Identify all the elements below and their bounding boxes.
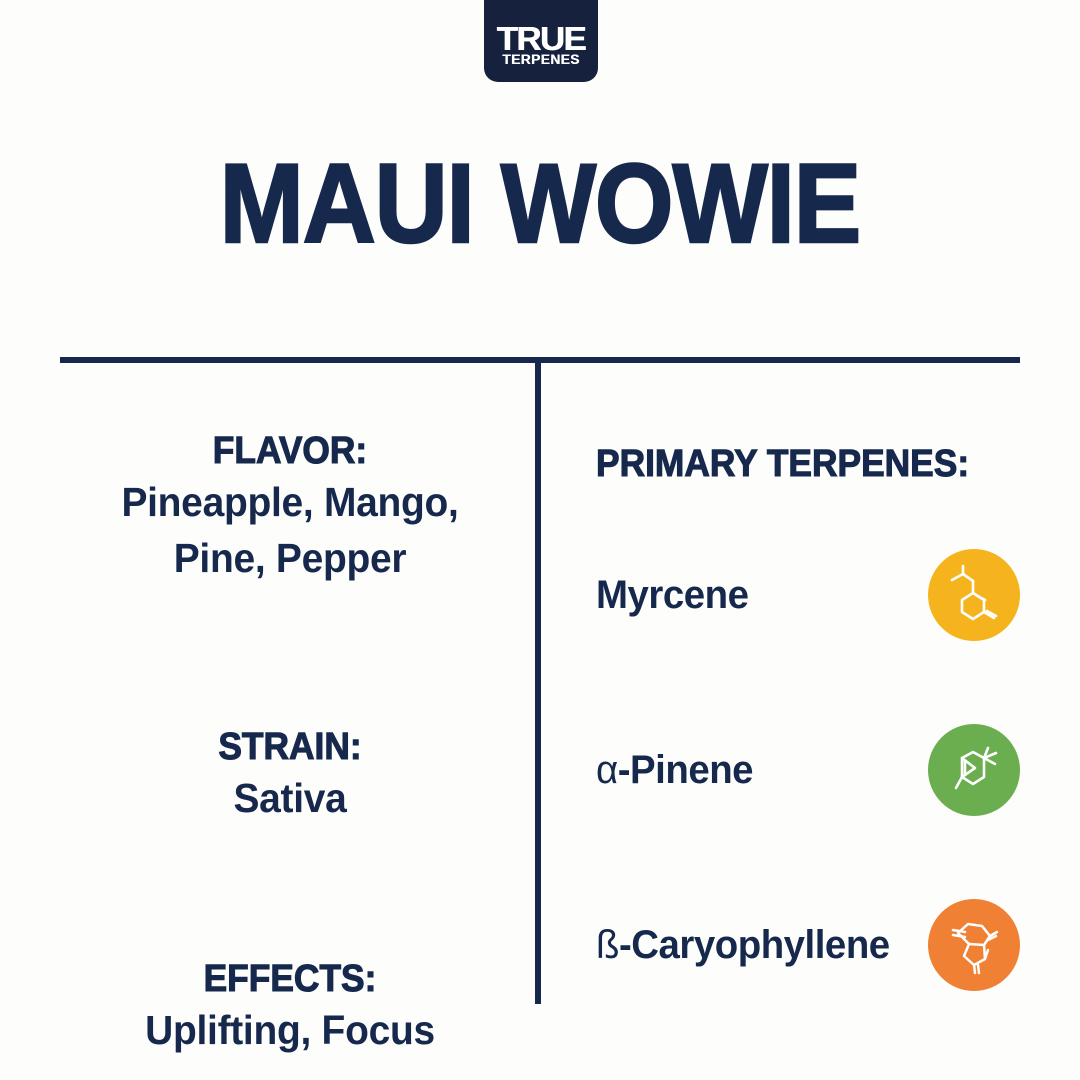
beta-caryophyllene-molecule-icon (928, 899, 1020, 991)
alpha-pinene-molecule-icon (928, 724, 1020, 816)
field-flavor: FLAVOR: Pineapple, Mango,Pine, Pepper (60, 430, 520, 587)
terpenes-heading: PRIMARY TERPENES: (596, 444, 990, 486)
vertical-divider (535, 363, 541, 1004)
terpenes-list: Myrcene α-Pinene (596, 548, 1020, 993)
page-title: MAUI WOWIE (54, 148, 1026, 260)
field-strain-value: Sativa (72, 770, 509, 827)
attributes-column: FLAVOR: Pineapple, Mango,Pine, Pepper ST… (60, 430, 520, 1058)
spacer-effects (60, 870, 520, 958)
terpene-row-myrcene: Myrcene (596, 548, 1020, 643)
strain-info-card: TRUE TERPENES MAUI WOWIE FLAVOR: Pineapp… (0, 0, 1080, 1080)
field-flavor-label: FLAVOR: (76, 430, 504, 474)
myrcene-molecule-icon (928, 549, 1020, 641)
terpene-prefix-beta: ß (596, 923, 619, 967)
terpene-row-alpha-pinene: α-Pinene (596, 723, 1020, 818)
terpene-prefix-alpha: α (596, 748, 618, 792)
field-strain-label: STRAIN: (76, 726, 504, 770)
logo-wordmark-terpenes: TERPENES (502, 52, 579, 69)
field-effects-label: EFFECTS: (76, 958, 504, 1002)
terpene-label-myrcene: Myrcene (596, 573, 748, 617)
spacer-strain (60, 631, 520, 726)
logo-wordmark-true: TRUE (497, 25, 585, 52)
terpene-name-alpha-pinene: α-Pinene (596, 750, 753, 790)
terpenes-column: PRIMARY TERPENES: Myrcene (596, 444, 1020, 993)
field-effects-value: Uplifting, Focus (72, 1002, 509, 1059)
field-effects: EFFECTS: Uplifting, Focus (60, 958, 520, 1058)
field-flavor-value: Pineapple, Mango,Pine, Pepper (72, 474, 509, 587)
terpene-label-pinene: -Pinene (618, 748, 753, 792)
terpene-row-beta-caryophyllene: ß-Caryophyllene (596, 898, 1020, 993)
terpene-name-myrcene: Myrcene (596, 575, 748, 615)
true-terpenes-logo: TRUE TERPENES (484, 0, 598, 82)
terpene-label-caryophyllene: -Caryophyllene (619, 923, 890, 967)
terpene-name-beta-caryophyllene: ß-Caryophyllene (596, 925, 890, 965)
field-strain: STRAIN: Sativa (60, 726, 520, 826)
